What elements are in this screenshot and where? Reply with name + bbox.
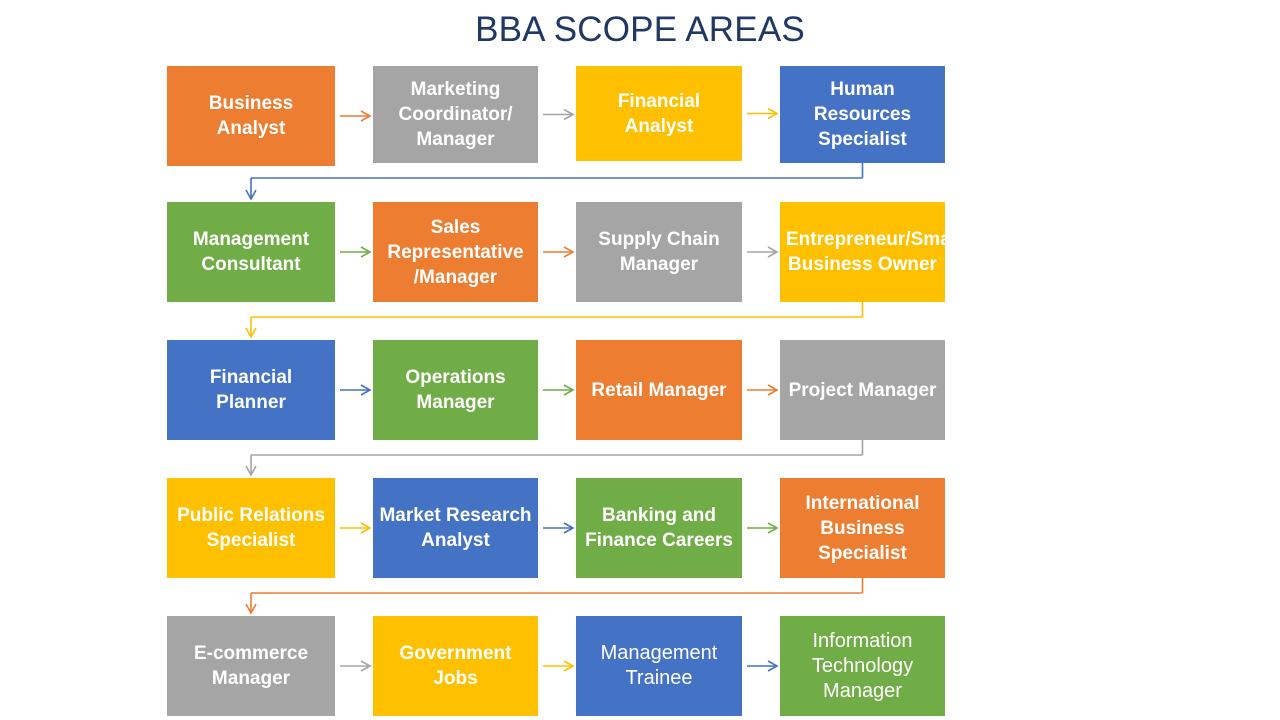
node-human-resources-specialist[interactable]: Human Resources Specialist (780, 66, 945, 163)
node-label: Market Research Analyst (379, 503, 532, 553)
node-market-research-analyst[interactable]: Market Research Analyst (373, 478, 538, 578)
arrow-marketing-coordinator-manager-to-financial-analyst (543, 110, 573, 120)
node-business-analyst[interactable]: Business Analyst (167, 66, 335, 166)
node-label: Management Trainee (582, 641, 736, 691)
arrow-sales-representative-manager-to-supply-chain-manager (543, 247, 573, 257)
node-marketing-coordinator-manager[interactable]: Marketing Coordinator/ Manager (373, 66, 538, 163)
node-label: Human Resources Specialist (786, 77, 939, 152)
node-e-commerce-manager[interactable]: E-commerce Manager (167, 616, 335, 716)
arrow-supply-chain-manager-to-entrepreneur-small-business-owner (747, 247, 777, 257)
arrow-financial-planner-to-operations-manager (340, 385, 370, 395)
node-label: Project Manager (786, 378, 939, 403)
page-title: BBA SCOPE AREAS (0, 8, 1280, 52)
arrow-business-analyst-to-marketing-coordinator-manager (340, 111, 370, 121)
node-government-jobs[interactable]: Government Jobs (373, 616, 538, 716)
node-entrepreneur-small-business-owner[interactable]: Entrepreneur/Small Business Owner (780, 202, 945, 302)
node-financial-planner[interactable]: Financial Planner (167, 340, 335, 440)
row-connector-2-to-3 (246, 302, 863, 337)
node-label: International Business Specialist (786, 491, 939, 566)
node-label: Sales Representative /Manager (379, 215, 532, 290)
node-label: Financial Analyst (582, 89, 736, 139)
node-project-manager[interactable]: Project Manager (780, 340, 945, 440)
arrow-public-relations-specialist-to-market-research-analyst (340, 523, 370, 533)
node-label: Entrepreneur/Small Business Owner (786, 227, 939, 277)
arrow-market-research-analyst-to-banking-and-finance-careers (543, 523, 573, 533)
node-label: Retail Manager (582, 378, 736, 403)
node-label: E-commerce Manager (173, 641, 329, 691)
arrow-government-jobs-to-management-trainee (543, 661, 573, 671)
node-label: Public Relations Specialist (173, 503, 329, 553)
node-label: Operations Manager (379, 365, 532, 415)
row-connector-4-to-5 (246, 578, 863, 613)
arrow-banking-and-finance-careers-to-international-business-specialist (747, 523, 777, 533)
node-label: Marketing Coordinator/ Manager (379, 77, 532, 152)
arrow-management-trainee-to-information-technology-manager (747, 661, 777, 671)
arrow-financial-analyst-to-human-resources-specialist (747, 109, 777, 119)
node-financial-analyst[interactable]: Financial Analyst (576, 66, 742, 161)
arrow-retail-manager-to-project-manager (747, 385, 777, 395)
row-connector-1-to-2 (246, 163, 863, 199)
node-public-relations-specialist[interactable]: Public Relations Specialist (167, 478, 335, 578)
node-label: Government Jobs (379, 641, 532, 691)
node-information-technology-manager[interactable]: Information Technology Manager (780, 616, 945, 716)
node-label: Information Technology Manager (786, 629, 939, 704)
node-supply-chain-manager[interactable]: Supply Chain Manager (576, 202, 742, 302)
arrow-operations-manager-to-retail-manager (543, 385, 573, 395)
node-label: Management Consultant (173, 227, 329, 277)
arrow-management-consultant-to-sales-representative-manager (340, 247, 370, 257)
node-operations-manager[interactable]: Operations Manager (373, 340, 538, 440)
node-management-consultant[interactable]: Management Consultant (167, 202, 335, 302)
row-connector-3-to-4 (246, 440, 863, 475)
node-international-business-specialist[interactable]: International Business Specialist (780, 478, 945, 578)
node-sales-representative-manager[interactable]: Sales Representative /Manager (373, 202, 538, 302)
node-management-trainee[interactable]: Management Trainee (576, 616, 742, 716)
node-label: Business Analyst (173, 91, 329, 141)
node-label: Financial Planner (173, 365, 329, 415)
diagram-canvas: BBA SCOPE AREAS Business AnalystMarketin… (0, 0, 1280, 720)
node-retail-manager[interactable]: Retail Manager (576, 340, 742, 440)
node-banking-and-finance-careers[interactable]: Banking and Finance Careers (576, 478, 742, 578)
node-label: Supply Chain Manager (582, 227, 736, 277)
arrow-e-commerce-manager-to-government-jobs (340, 661, 370, 671)
node-label: Banking and Finance Careers (582, 503, 736, 553)
